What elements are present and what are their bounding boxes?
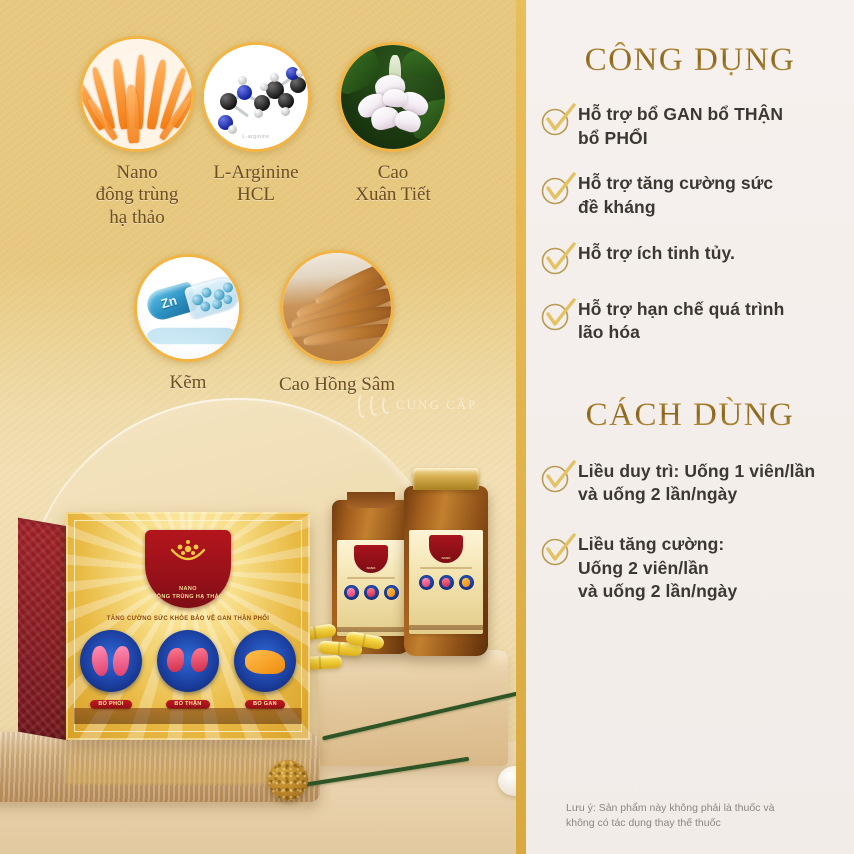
- box-brand-shield: NANO ĐÔNG TRÙNG HẠ THẢO: [145, 530, 231, 608]
- molecule-icon: L-arginine: [201, 42, 311, 152]
- benefit-item: Hỗ trợ ích tinh tủy.: [526, 242, 854, 276]
- usage-text: Liều duy trì: Uống 1 viên/lần và uống 2 …: [574, 460, 815, 507]
- box-side-panel: [18, 518, 68, 741]
- ingredient-cao-xuan-tiet: Cao Xuân Tiết: [332, 42, 454, 207]
- bottle-brand: NANO: [367, 566, 376, 570]
- red-ginseng-icon: [280, 250, 394, 364]
- bottle-cap: [413, 468, 479, 490]
- watermark-text: CUNG CẤP: [396, 397, 477, 413]
- usage-item: Liều duy trì: Uống 1 viên/lần và uống 2 …: [526, 460, 854, 507]
- ingredient-label: L-Arginine HCL: [195, 162, 317, 207]
- check-icon: [540, 535, 574, 567]
- check-icon: [540, 244, 574, 276]
- product-scene: NANO NANO: [0, 470, 516, 854]
- box-brand-line1: NANO: [179, 585, 197, 593]
- product-bottle-front: NANO: [404, 486, 488, 656]
- benefits-title: CÔNG DỤNG: [526, 42, 854, 79]
- right-panel: CÔNG DỤNG Hỗ trợ bổ GAN bổ THẬN bổ PHỔI: [526, 0, 854, 854]
- usage-list: Liều duy trì: Uống 1 viên/lần và uống 2 …: [526, 460, 854, 604]
- kidneys-icon: [157, 630, 219, 692]
- flower-icon: [338, 42, 448, 152]
- usage-text: Liều tăng cường: Uống 2 viên/lần và uống…: [574, 533, 737, 604]
- usage-item: Liều tăng cường: Uống 2 viên/lần và uống…: [526, 533, 854, 604]
- ingredient-label: Cao Xuân Tiết: [332, 162, 454, 207]
- lungs-icon: [80, 630, 142, 692]
- benefit-item: Hỗ trợ bổ GAN bổ THẬN bổ PHỔI: [526, 103, 854, 150]
- ingredient-cordyceps: Nano đông trùng hạ thảo: [72, 36, 202, 229]
- benefit-item: Hỗ trợ tăng cường sức đề kháng: [526, 172, 854, 219]
- usage-title: CÁCH DÙNG: [526, 397, 854, 434]
- benefit-text: Hỗ trợ hạn chế quá trình lão hóa: [574, 298, 784, 345]
- box-tagline: TĂNG CƯỜNG SỨC KHỎE BẢO VỆ GAN THẬN PHỔI: [107, 616, 269, 622]
- watermark-arc-icon: [370, 394, 379, 416]
- ingredient-red-ginseng: Cao Hồng Sâm: [277, 250, 397, 396]
- ingredient-label: Nano đông trùng hạ thảo: [72, 162, 202, 229]
- ingredient-zinc: Zn Kẽm: [130, 254, 246, 394]
- check-icon: [540, 300, 574, 332]
- benefits-list: Hỗ trợ bổ GAN bổ THẬN bổ PHỔI Hỗ trợ tăn…: [526, 103, 854, 345]
- cordyceps-icon: [79, 36, 195, 152]
- check-icon: [540, 105, 574, 137]
- benefit-text: Hỗ trợ ích tinh tủy.: [574, 242, 735, 266]
- check-icon: [540, 462, 574, 494]
- box-organ-row: BỔ PHỔI BỔ THẬN: [80, 630, 296, 710]
- box-front-panel: NANO ĐÔNG TRÙNG HẠ THẢO TĂNG CƯỜNG SỨC K…: [66, 512, 310, 740]
- brand-emblem-icon: [166, 538, 210, 568]
- box-organ-item: BỔ GAN: [234, 630, 296, 710]
- ingredient-label: Cao Hồng Sâm: [277, 374, 397, 396]
- box-brand-line2: ĐÔNG TRÙNG HẠ THẢO: [152, 593, 223, 601]
- benefit-text: Hỗ trợ tăng cường sức đề kháng: [574, 172, 773, 219]
- ingredient-label: Kẽm: [130, 372, 246, 394]
- benefit-item: Hỗ trợ hạn chế quá trình lão hóa: [526, 298, 854, 345]
- box-organ-item: BỔ PHỔI: [80, 630, 142, 710]
- disclaimer-note: Lưu ý: Sản phẩm này không phải là thuốc …: [566, 801, 844, 833]
- product-infographic: Nano đông trùng hạ thảo: [0, 0, 854, 854]
- watermark-arc-icon: [382, 396, 391, 414]
- liver-icon: [234, 630, 296, 692]
- check-icon: [540, 174, 574, 206]
- box-organ-item: BỔ THẬN: [157, 630, 219, 710]
- zinc-capsule-icon: Zn: [134, 254, 242, 362]
- left-panel: Nano đông trùng hạ thảo: [0, 0, 516, 854]
- podium-block: [318, 650, 508, 766]
- benefit-text: Hỗ trợ bổ GAN bổ THẬN bổ PHỔI: [574, 103, 783, 150]
- product-bottle-back: NANO: [332, 500, 410, 654]
- panel-divider: [516, 0, 526, 854]
- product-box: NANO ĐÔNG TRÙNG HẠ THẢO TĂNG CƯỜNG SỨC K…: [18, 512, 310, 740]
- bottle-brand: NANO: [442, 556, 451, 560]
- box-bottom-strip: [74, 708, 302, 724]
- molecule-caption: L-arginine: [204, 134, 308, 140]
- billy-button-flower: [268, 760, 308, 800]
- ingredient-l-arginine: L-arginine L-Arginine HCL: [195, 42, 317, 207]
